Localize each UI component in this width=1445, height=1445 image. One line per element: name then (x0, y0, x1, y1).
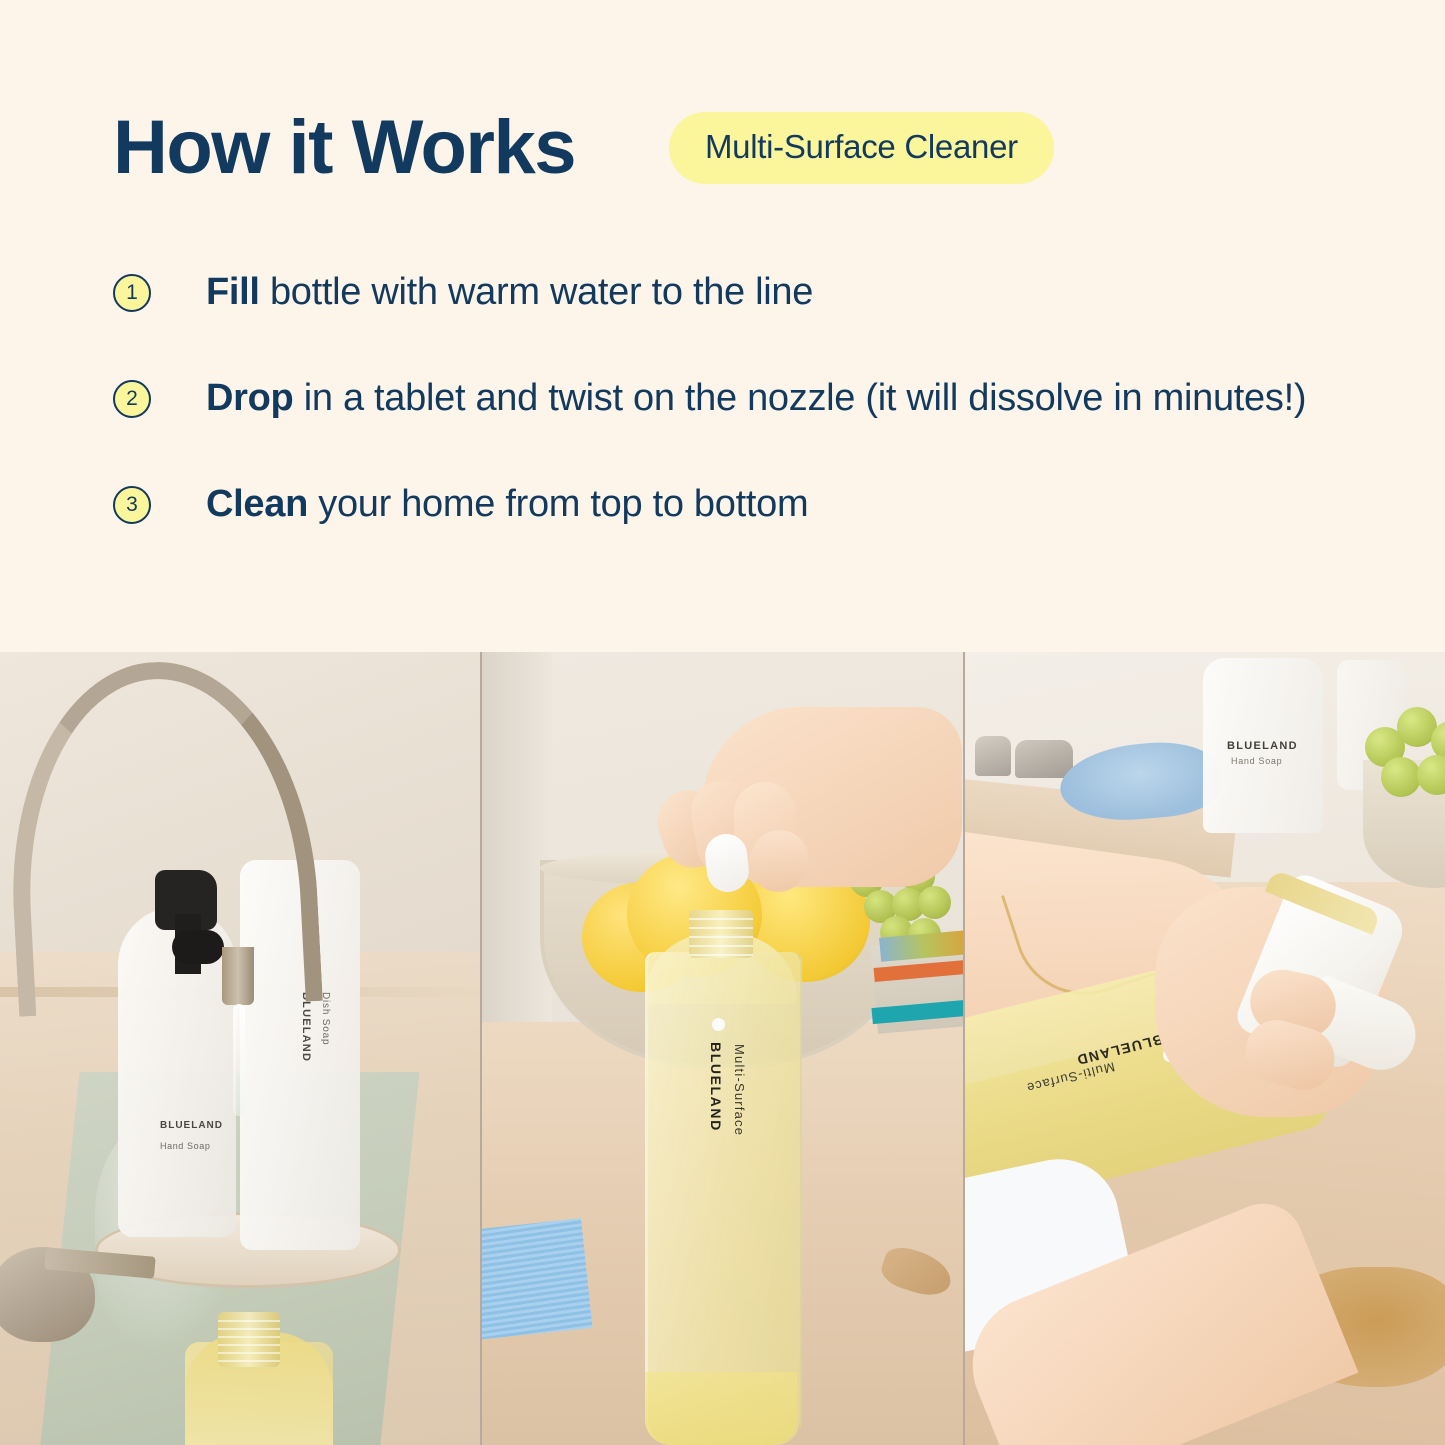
step-text-3: Clean your home from top to bottom (206, 478, 808, 532)
water-stream (233, 1004, 245, 1116)
step-number-badge-1: 1 (113, 274, 151, 312)
steps-list: 1 Fill bottle with warm water to the lin… (113, 266, 1353, 532)
step-keyword-3: Clean (206, 483, 308, 525)
bottle-product-label: Multi-Surface (732, 1044, 747, 1136)
bottle-threads (218, 1314, 280, 1362)
infographic-page: How it Works Multi-Surface Cleaner 1 Fil… (0, 0, 1445, 1445)
step-number-badge-3: 3 (113, 486, 151, 524)
blue-cleaning-cloth (482, 1218, 592, 1339)
bottle-brand-label: BLUELAND (708, 1042, 724, 1132)
hand-soap-brand-label: BLUELAND (1227, 740, 1298, 752)
step-keyword-2: Drop (206, 377, 293, 419)
bottle-threads (689, 912, 753, 956)
step-text-1: Fill bottle with warm water to the line (206, 266, 813, 320)
step-text-2: Drop in a tablet and twist on the nozzle… (206, 372, 1306, 426)
step-body-2: in a tablet and twist on the nozzle (it … (293, 377, 1306, 419)
step-number-badge-2: 2 (113, 380, 151, 418)
faucet-handle (975, 736, 1011, 776)
faucet-spout (222, 947, 254, 1005)
photo-panel-fill: BLUELAND Hand Soap BLUELAND Dish Soap BL… (0, 652, 480, 1445)
dish-soap-brand-label: BLUELAND (300, 992, 312, 1062)
photo-strip: BLUELAND Hand Soap BLUELAND Dish Soap BL… (0, 652, 1445, 1445)
green-grapes (1365, 707, 1445, 817)
step-keyword-1: Fill (206, 271, 260, 313)
step-item-1: 1 Fill bottle with warm water to the lin… (113, 266, 1353, 320)
step-item-3: 3 Clean your home from top to bottom (113, 478, 1353, 532)
photo-panel-drop: BLUELAND Multi-Surface (482, 652, 963, 1445)
hand-soap-product-label: Hand Soap (160, 1141, 210, 1151)
page-title: How it Works (113, 110, 575, 186)
bottle-base (645, 1372, 797, 1445)
step-body-1: bottle with warm water to the line (260, 271, 813, 313)
step-item-2: 2 Drop in a tablet and twist on the nozz… (113, 372, 1353, 426)
title-row: How it Works Multi-Surface Cleaner (113, 110, 1054, 186)
photo-panel-twist: BLUELAND Hand Soap BLUELAND Multi-Surfac… (965, 652, 1445, 1445)
hand-soap-brand-label: BLUELAND (160, 1120, 223, 1131)
fill-line-dot (712, 1018, 725, 1031)
step-body-3: your home from top to bottom (308, 483, 808, 525)
faucet-base (1015, 740, 1073, 778)
header-section: How it Works Multi-Surface Cleaner 1 Fil… (0, 0, 1445, 652)
hand-soap-product-label: Hand Soap (1231, 756, 1282, 766)
product-badge: Multi-Surface Cleaner (669, 112, 1054, 184)
